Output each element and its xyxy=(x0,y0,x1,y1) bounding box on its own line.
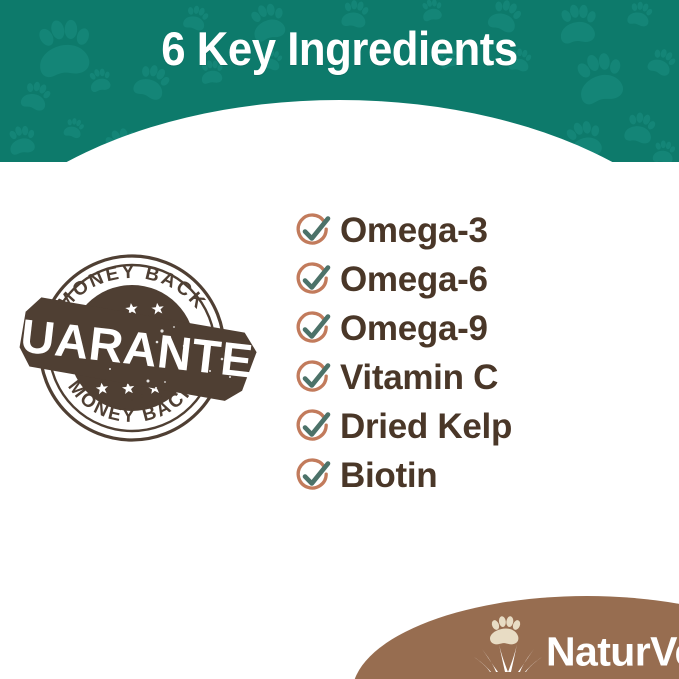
ingredient-label: Omega-3 xyxy=(340,212,488,250)
page-title: 6 Key Ingredients xyxy=(24,19,655,79)
check-circle-icon xyxy=(294,212,332,250)
ingredient-label: Omega-9 xyxy=(340,310,488,348)
check-circle-icon xyxy=(294,310,332,348)
ingredient-label: Omega-6 xyxy=(340,261,488,299)
product-feature-graphic: 6 Key Ingredients xyxy=(0,0,679,679)
ingredient-list: Omega-3 Omega-6 Omega-9 xyxy=(294,206,634,500)
list-item: Omega-3 xyxy=(294,206,634,255)
check-circle-icon xyxy=(294,408,332,446)
naturvet-logo: NaturVet® xyxy=(472,614,679,674)
ingredient-label: Dried Kelp xyxy=(340,408,512,446)
check-circle-icon xyxy=(294,457,332,495)
list-item: Biotin xyxy=(294,451,634,500)
naturvet-paw-grass-icon xyxy=(472,614,544,674)
ingredient-label: Vitamin C xyxy=(340,359,498,397)
list-item: Vitamin C xyxy=(294,353,634,402)
check-circle-icon xyxy=(294,359,332,397)
check-circle-icon xyxy=(294,261,332,299)
brand-name-text: NaturVet xyxy=(546,629,679,675)
list-item: Dried Kelp xyxy=(294,402,634,451)
brand-name: NaturVet® xyxy=(546,624,679,674)
money-back-guarantee-stamp: MONEY BACK MONEY BACK xyxy=(14,238,282,448)
list-item: Omega-6 xyxy=(294,255,634,304)
ingredient-label: Biotin xyxy=(340,457,437,495)
list-item: Omega-9 xyxy=(294,304,634,353)
